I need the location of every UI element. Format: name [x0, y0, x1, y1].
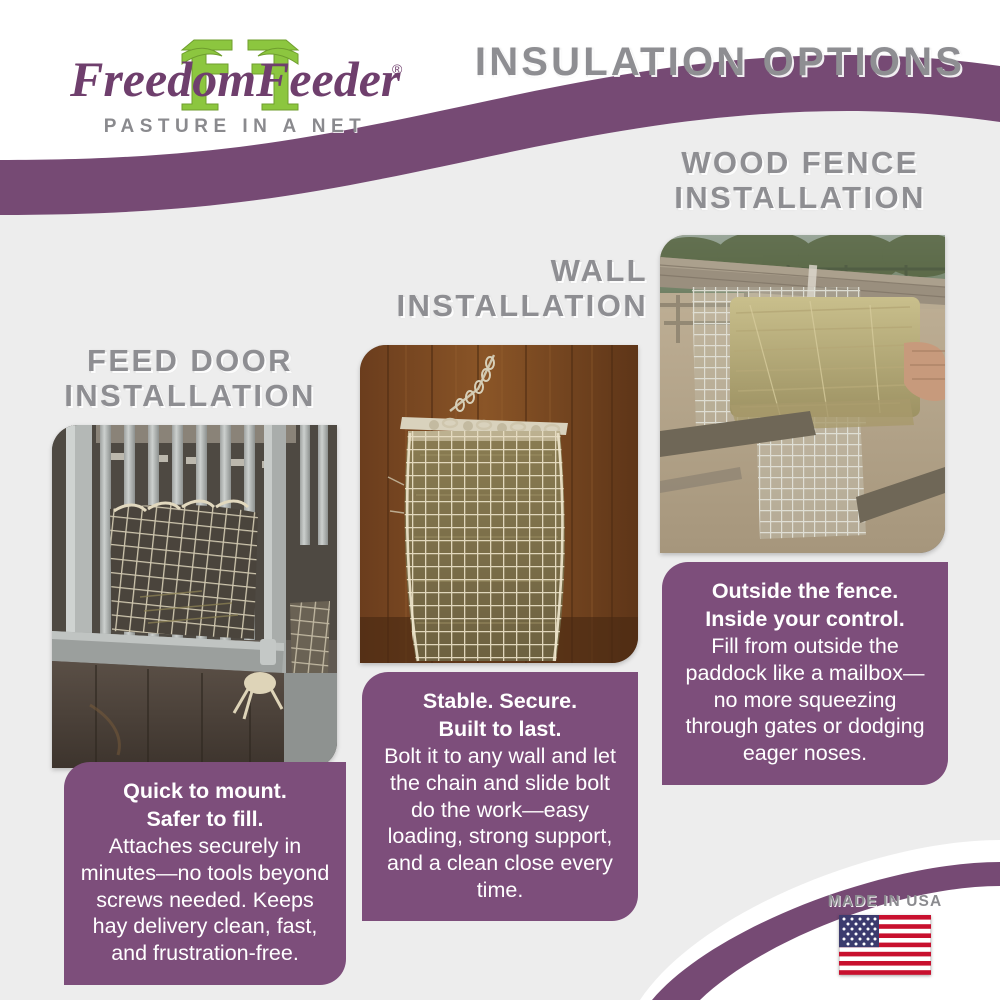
wordmark-feeder: Feeder [255, 51, 401, 107]
made-in-usa-badge: MADE IN USA [820, 893, 950, 975]
heading-line-2: INSTALLATION [64, 378, 316, 413]
photo-wall-installation [360, 345, 638, 663]
made-in-usa-label: MADE IN USA [820, 893, 950, 911]
caption-wood-fence: Outside the fence. Inside your control. … [662, 562, 948, 785]
heading-line-1: FEED DOOR [87, 343, 293, 378]
caption-headline-line-1: Outside the fence. [676, 578, 934, 605]
brand-logo: Freedom Feeder ® PASTURE IN A NET [70, 36, 410, 148]
caption-headline-line-2: Inside your control. [676, 606, 934, 633]
brand-tagline: PASTURE IN A NET [70, 116, 400, 138]
section-heading-wall: WALL INSTALLATION [330, 254, 648, 323]
caption-feed-door: Quick to mount. Safer to fill. Attaches … [64, 762, 346, 985]
registered-mark-icon: ® [392, 61, 403, 77]
photo-wood-fence-installation [660, 235, 945, 553]
page-title: INSULATION OPTIONS [470, 40, 970, 85]
caption-body: Fill from outside the paddock like a mai… [676, 633, 934, 766]
section-heading-wood-fence: WOOD FENCE INSTALLATION [640, 146, 960, 215]
freedom-feeder-logomark: Freedom Feeder ® [70, 36, 410, 114]
caption-headline-line-2: Safer to fill. [78, 806, 332, 833]
section-heading-feed-door: FEED DOOR INSTALLATION [30, 344, 350, 413]
caption-body: Bolt it to any wall and let the chain an… [376, 743, 624, 903]
caption-headline-line-2: Built to last. [376, 716, 624, 743]
wordmark-freedom: Freedom [70, 51, 256, 107]
photo-feed-door-installation [52, 425, 337, 768]
usa-flag-icon [839, 915, 931, 975]
heading-line-1: WOOD FENCE [681, 145, 919, 180]
caption-headline-line-1: Stable. Secure. [376, 688, 624, 715]
caption-body: Attaches securely in minutes—no tools be… [78, 833, 332, 966]
heading-line-1: WALL [551, 253, 648, 288]
caption-headline-line-1: Quick to mount. [78, 778, 332, 805]
heading-line-2: INSTALLATION [674, 180, 926, 215]
infographic-poster: Freedom Feeder ® PASTURE IN A NET INSULA… [0, 0, 1000, 1000]
heading-line-2: INSTALLATION [396, 288, 648, 323]
caption-wall: Stable. Secure. Built to last. Bolt it t… [362, 672, 638, 921]
